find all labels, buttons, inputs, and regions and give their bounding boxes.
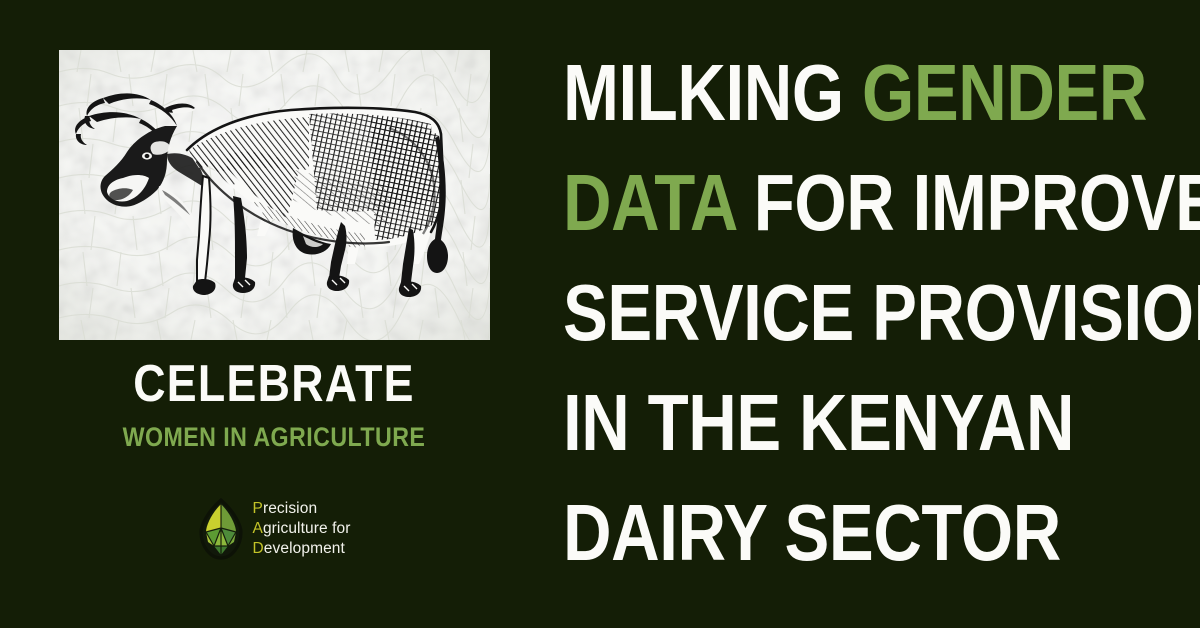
logo-line-3-rest: evelopment (264, 540, 345, 557)
logo-lockup: Precision Agriculture for Development (198, 498, 351, 560)
logo-initial-a: A (253, 520, 263, 537)
headline-line-3: SERVICE PROVISION (563, 258, 1084, 368)
poster-canvas: CELEBRATE WOMEN IN AGRICULTURE (0, 0, 1200, 628)
headline-line-2-part-2: FOR IMPROVED (735, 158, 1200, 247)
logo-line-1: Precision (253, 499, 351, 519)
celebrate-title: CELEBRATE (38, 358, 509, 410)
logo-block: Precision Agriculture for Development (0, 498, 548, 560)
headline-line-5: DAIRY SECTOR (563, 478, 1084, 588)
headline-line-4: IN THE KENYAN (563, 368, 1084, 478)
logo-line-3: Development (253, 539, 351, 559)
logo-wordmark: Precision Agriculture for Development (253, 499, 351, 559)
logo-initial-p: P (253, 500, 263, 517)
headline-line-5-part-1: DAIRY SECTOR (563, 488, 1061, 577)
logo-line-1-rest: recision (263, 500, 317, 517)
headline-line-1-part-2: GENDER (862, 48, 1147, 137)
headline-line-1-part-1: MILKING (563, 48, 862, 137)
headline-line-2: DATA FOR IMPROVED (563, 148, 1084, 258)
headline-line-4-part-1: IN THE KENYAN (563, 378, 1074, 467)
logo-line-2: Agriculture for (253, 519, 351, 539)
headline-line-2-part-1: DATA (563, 158, 735, 247)
logo-initial-d: D (253, 540, 264, 557)
celebrate-block: CELEBRATE WOMEN IN AGRICULTURE (0, 358, 548, 451)
cow-illustration-panel (59, 50, 490, 340)
celebrate-subtitle: WOMEN IN AGRICULTURE (38, 424, 509, 451)
headline: MILKING GENDERDATA FOR IMPROVEDSERVICE P… (563, 38, 1183, 588)
cow-engraving-icon (59, 50, 490, 340)
headline-line-1: MILKING GENDER (563, 38, 1084, 148)
leaf-logo-icon (198, 498, 244, 560)
left-column: CELEBRATE WOMEN IN AGRICULTURE (0, 0, 548, 628)
headline-line-3-part-1: SERVICE PROVISION (563, 268, 1200, 357)
logo-line-2-rest: griculture for (263, 520, 351, 537)
